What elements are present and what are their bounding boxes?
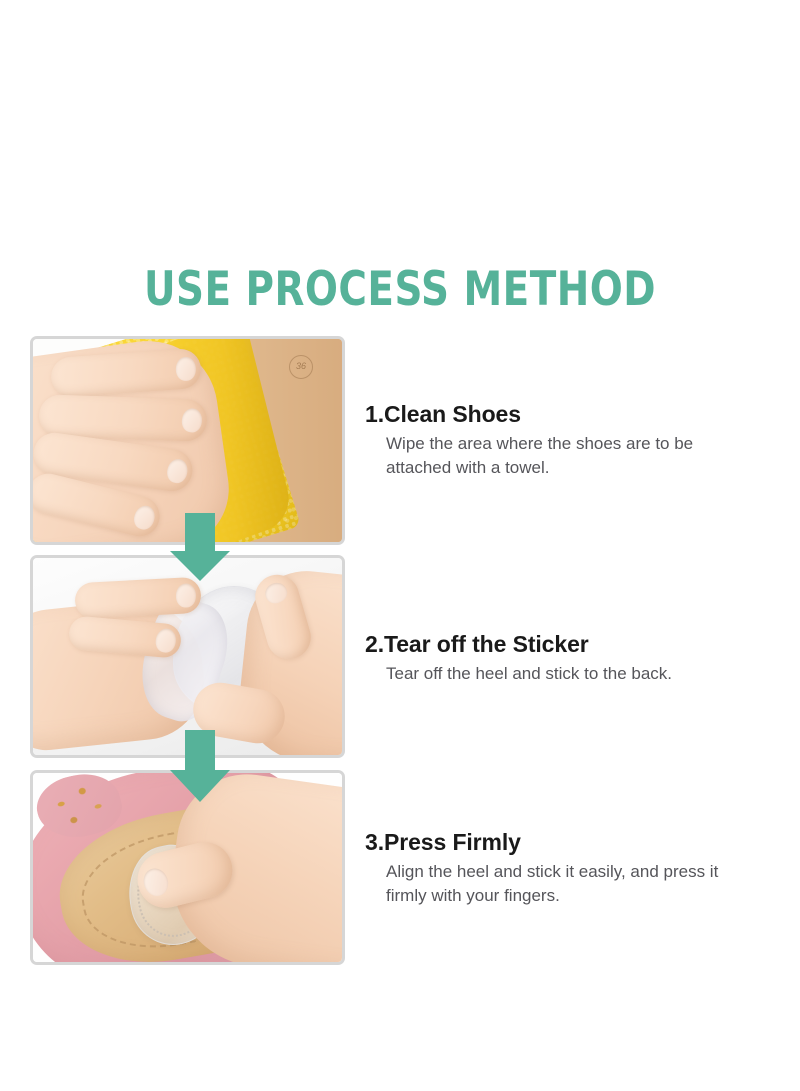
down-arrow-icon <box>170 730 230 802</box>
page-title: USE PROCESS METHOD <box>32 264 768 316</box>
shoe-size-label: 36 <box>289 355 313 379</box>
step-2-text-block: 2.Tear off the Sticker Tear off the heel… <box>365 630 785 686</box>
step-1-description: Wipe the area where the shoes are to be … <box>386 432 734 480</box>
down-arrow-icon <box>170 513 230 581</box>
step-1-heading: 1.Clean Shoes <box>365 400 785 428</box>
step-2-image-panel <box>30 555 345 758</box>
infographic-page: USE PROCESS METHOD 36 <box>0 0 800 1091</box>
step-2-photo <box>33 558 342 755</box>
step-2-heading: 2.Tear off the Sticker <box>365 630 785 658</box>
step-2-description: Tear off the heel and stick to the back. <box>386 662 734 686</box>
step-3-text-block: 3.Press Firmly Align the heel and stick … <box>365 828 785 908</box>
step-3-description: Align the heel and stick it easily, and … <box>386 860 734 908</box>
finger-shape <box>74 577 202 620</box>
step-1-text-block: 1.Clean Shoes Wipe the area where the sh… <box>365 400 785 480</box>
step-1-photo: 36 <box>33 339 342 542</box>
step-3-heading: 3.Press Firmly <box>365 828 785 856</box>
